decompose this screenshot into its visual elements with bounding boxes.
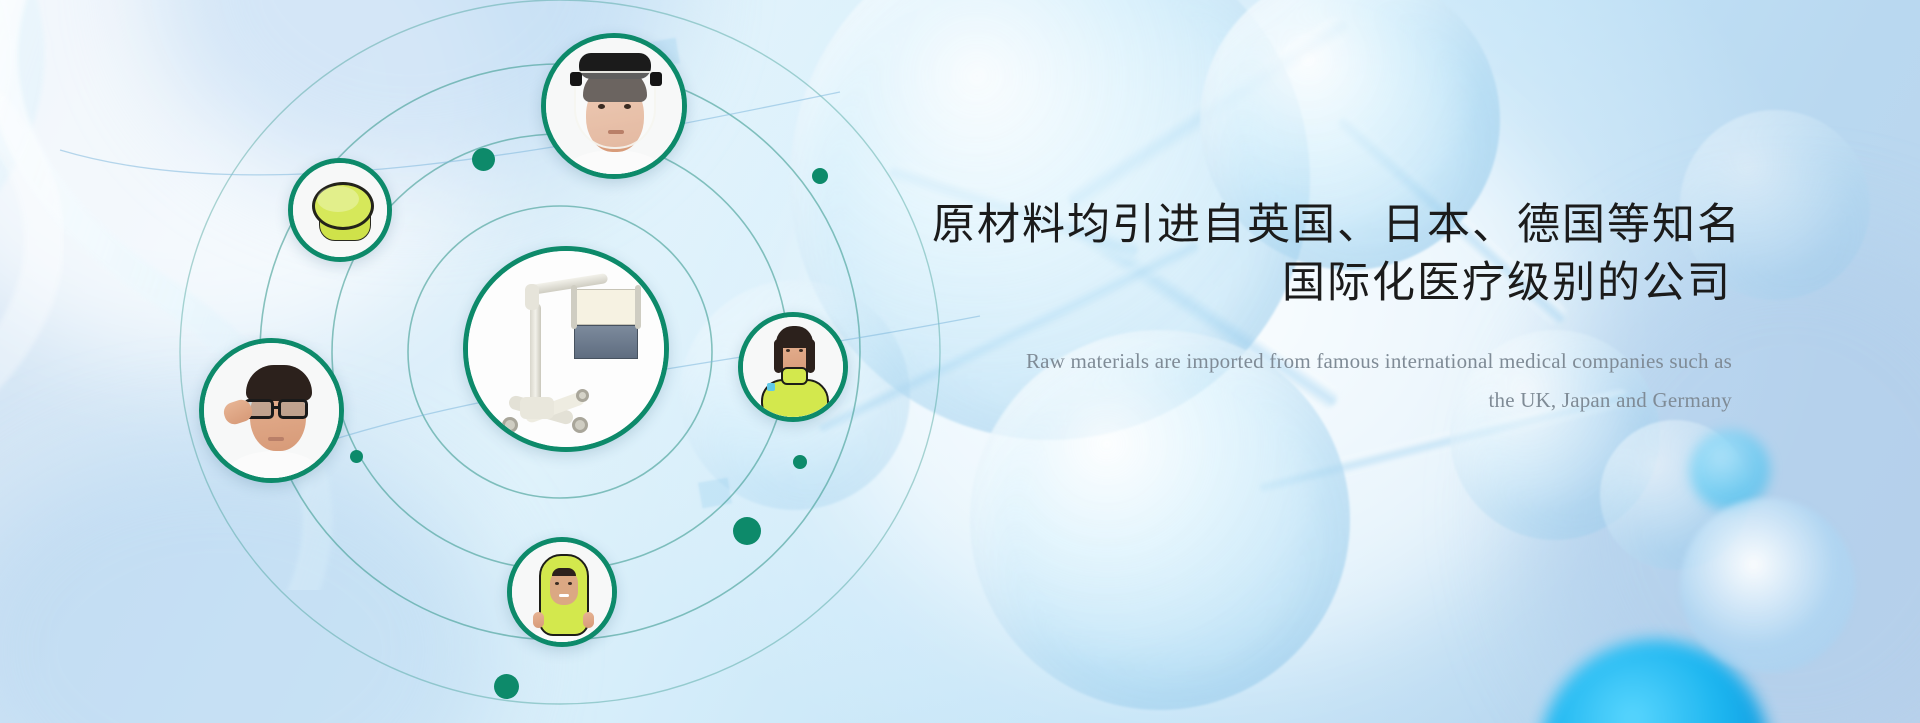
bubble-thyroid-collar[interactable] bbox=[738, 312, 848, 422]
orbit-dot-3 bbox=[350, 450, 363, 463]
bubble-lead-glasses[interactable] bbox=[199, 338, 344, 483]
bubble-lead-cap[interactable] bbox=[288, 158, 392, 262]
bubble-lead-hood[interactable] bbox=[507, 537, 617, 647]
orbit-dot-6 bbox=[494, 674, 519, 699]
pale-atom-bubble bbox=[1680, 498, 1855, 673]
bubble-mobile-lead-screen[interactable] bbox=[463, 246, 669, 452]
orbit-dot-4 bbox=[793, 455, 807, 469]
dna-strands bbox=[0, 0, 318, 590]
subtitle-line-2: the UK, Japan and Germany bbox=[932, 381, 1732, 420]
bokeh-wash-topleft bbox=[0, 0, 500, 360]
orbit-dot-1 bbox=[472, 148, 495, 171]
subtitle: Raw materials are imported from famous i… bbox=[932, 342, 1732, 420]
subtitle-line-1: Raw materials are imported from famous i… bbox=[932, 342, 1732, 381]
headline-line-1: 原材料均引进自英国、日本、德国等知名 bbox=[932, 196, 1732, 254]
hero-banner: 原材料均引进自英国、日本、德国等知名 国际化医疗级别的公司 Raw materi… bbox=[0, 0, 1920, 723]
bubble-face-shield[interactable] bbox=[541, 33, 687, 179]
copy-block: 原材料均引进自英国、日本、德国等知名 国际化医疗级别的公司 Raw materi… bbox=[932, 196, 1732, 420]
orbit-dot-5 bbox=[733, 517, 761, 545]
dna-helix-graphic bbox=[0, 0, 390, 590]
orbit-dot-2 bbox=[812, 168, 828, 184]
molecule-bond bbox=[1063, 12, 1354, 214]
tech-square bbox=[698, 478, 732, 509]
headline-line-2: 国际化医疗级别的公司 bbox=[932, 254, 1732, 312]
bokeh-wash-bottomleft bbox=[0, 440, 500, 723]
